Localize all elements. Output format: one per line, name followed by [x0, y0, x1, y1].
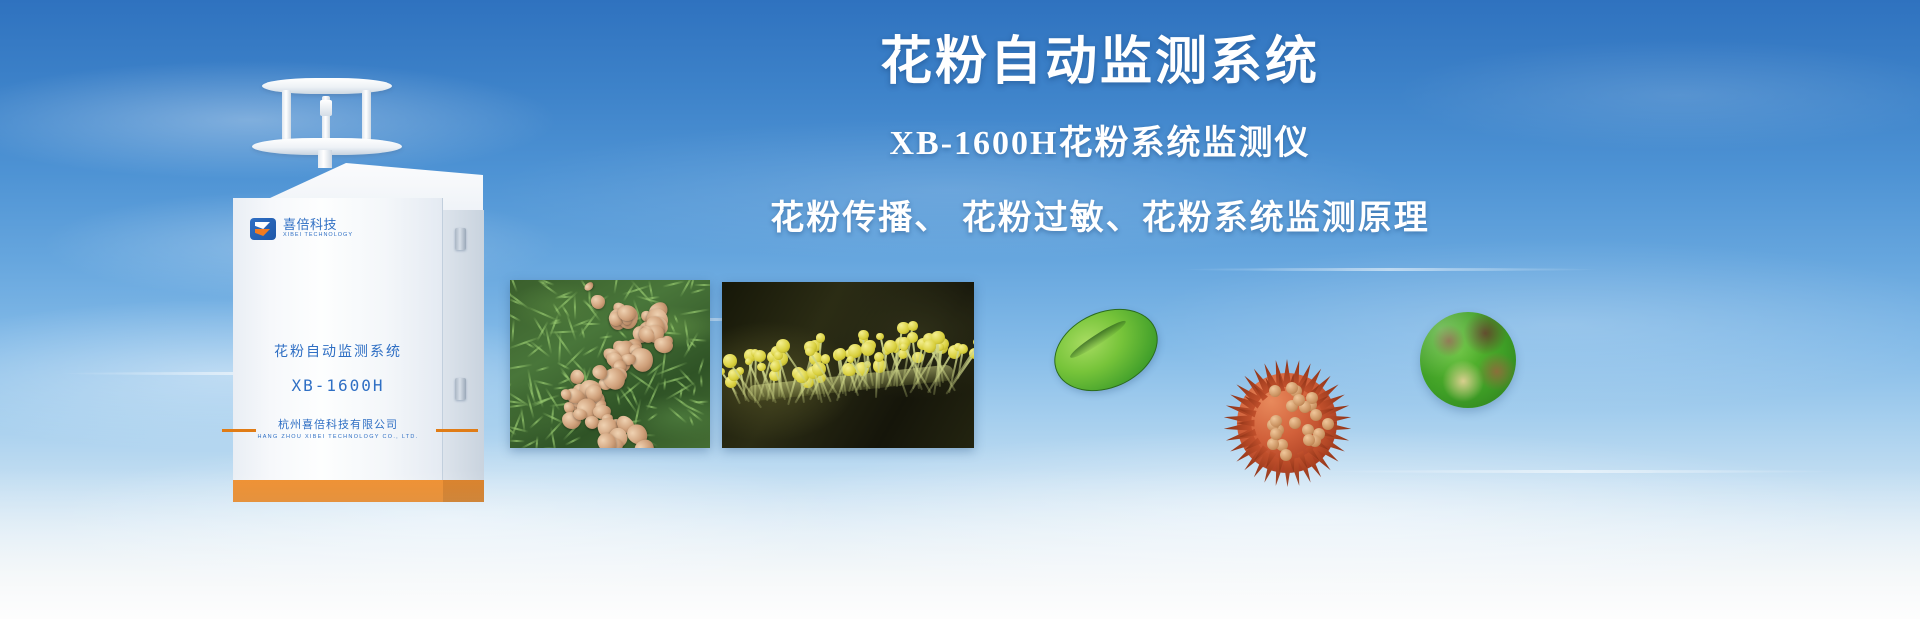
shield-post	[282, 90, 291, 146]
device-panel-model: XB-1600H	[233, 376, 443, 395]
pollen-monitoring-banner: 花粉自动监测系统 XB-1600H花粉系统监测仪 花粉传播、 花粉过敏、花粉系统…	[0, 0, 1920, 619]
catkin-anther	[923, 340, 936, 353]
pollen-bump	[1289, 417, 1301, 429]
catkin-anther	[805, 347, 814, 356]
pollen-grain-green-sphere	[1420, 312, 1516, 408]
company-name-en: HANG ZHOU XIBEI TECHNOLOGY CO., LTD.	[233, 434, 443, 440]
pollen-bump	[1293, 394, 1305, 406]
xibei-logo-icon	[250, 218, 276, 240]
catkin-anther	[900, 343, 908, 351]
oval-grain-furrow	[1068, 318, 1129, 362]
sampler-stem	[318, 150, 332, 168]
catkin-anther	[958, 344, 968, 354]
photo-catkin-stamens	[722, 282, 974, 448]
photo-cedar-pollen-cones	[510, 280, 710, 448]
device-base-front	[233, 480, 443, 502]
device-panel-title: 花粉自动监测系统	[233, 341, 443, 361]
catkin-anther	[757, 363, 765, 371]
catkin-anther	[835, 348, 846, 359]
pollen-monitor-device: 喜倍科技 XIBEI TECHNOLOGY 花粉自动监测系统 XB-1600H …	[190, 78, 500, 468]
catkin-anther	[723, 354, 737, 368]
topics-subtitle: 花粉传播、 花粉过敏、花粉系统监测原理	[600, 190, 1600, 239]
device-brand-logo: 喜倍科技 XIBEI TECHNOLOGY	[250, 218, 353, 240]
product-model-subtitle: XB-1600H花粉系统监测仪	[600, 115, 1600, 164]
device-latch-handle-top	[455, 228, 466, 250]
catkin-anther	[861, 342, 875, 356]
cedar-needle	[581, 323, 602, 325]
catkin-anther	[908, 321, 918, 331]
oval-grain-body	[1041, 293, 1171, 406]
brand-name-en: XIBEI TECHNOLOGY	[283, 232, 353, 240]
cloud-streak	[1320, 470, 1840, 473]
pollen-bump	[1310, 409, 1322, 421]
pollen-grain-spiky-orange	[1222, 358, 1352, 488]
pollen-bump	[1303, 434, 1315, 446]
catkin-anther	[973, 338, 974, 346]
catkin-anther	[816, 333, 825, 342]
pollen-bump	[1270, 415, 1282, 427]
brand-name-cn: 喜倍科技	[283, 218, 353, 232]
device-company-block: 杭州喜倍科技有限公司 HANG ZHOU XIBEI TECHNOLOGY CO…	[233, 416, 443, 440]
sphere-grain-body	[1420, 312, 1516, 408]
pollen-grain-green-oval	[1041, 293, 1171, 406]
banner-headings: 花粉自动监测系统 XB-1600H花粉系统监测仪 花粉传播、 花粉过敏、花粉系统…	[600, 32, 1600, 239]
pollen-bump	[1286, 382, 1298, 394]
device-right-face	[442, 210, 484, 494]
pollen-bump	[1322, 418, 1334, 430]
catkin-anther	[858, 330, 869, 341]
sampler-inlet-nub	[320, 100, 332, 116]
device-latch-handle-bottom	[455, 378, 466, 400]
cloud-streak	[1180, 268, 1600, 271]
company-name-cn: 杭州喜倍科技有限公司	[233, 416, 443, 432]
page-title: 花粉自动监测系统	[600, 32, 1600, 93]
catkin-anther	[884, 340, 897, 353]
pollen-bump	[1269, 385, 1281, 397]
cedar-needle	[694, 283, 710, 285]
shield-post	[362, 90, 371, 146]
device-base-right	[442, 480, 484, 502]
